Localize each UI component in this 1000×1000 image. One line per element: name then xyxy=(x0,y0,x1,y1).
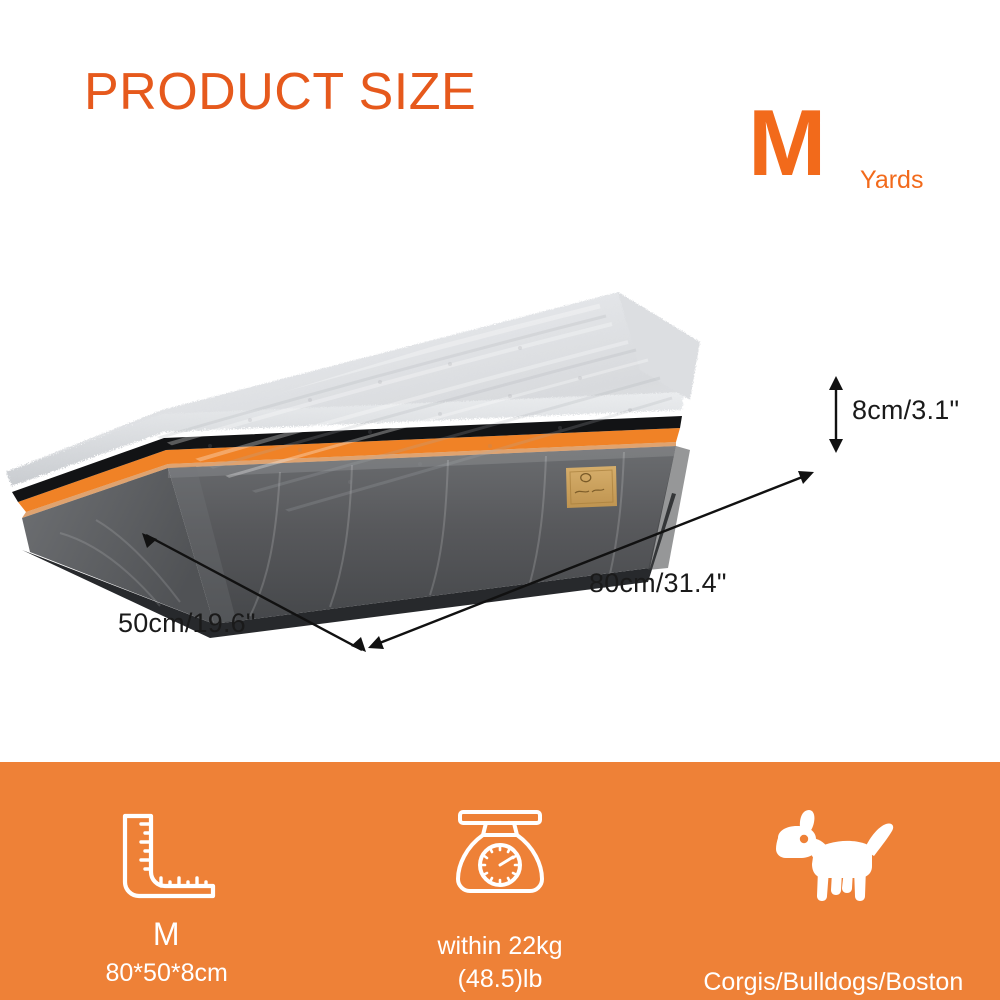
dimension-label-length: 80cm/31.4" xyxy=(589,568,727,599)
spec-footer-band: M 80*50*8cm xyxy=(0,762,1000,1000)
brand-name: Yards xyxy=(860,166,923,195)
spec-item-breeds: Corgis/Bulldogs/Boston xyxy=(667,762,1000,1000)
spec-breeds-list: Corgis/Bulldogs/Boston xyxy=(703,968,963,997)
spec-item-size: M 80*50*8cm xyxy=(0,762,333,1000)
height-arrow-head-bottom xyxy=(829,439,843,453)
dog-icon xyxy=(766,806,900,906)
spec-weight-lb: (48.5)lb xyxy=(458,965,543,994)
brand-size-letter: M xyxy=(748,96,824,190)
ruler-tape-icon xyxy=(115,806,219,906)
weighing-scale-icon xyxy=(450,806,550,906)
dimension-label-height: 8cm/3.1" xyxy=(852,395,959,426)
spec-size-dimensions: 80*50*8cm xyxy=(106,959,228,988)
spec-item-weight: within 22kg (48.5)lb xyxy=(333,762,666,1000)
brand-fabric-tag xyxy=(566,466,617,508)
page-title: PRODUCT SIZE xyxy=(84,62,476,122)
height-arrow-head-top xyxy=(829,376,843,390)
depth-arrow-head-lower xyxy=(351,637,366,652)
spec-size-letter: M xyxy=(153,916,181,953)
dimension-label-depth: 50cm/19.6" xyxy=(118,608,256,639)
spec-weight-kg: within 22kg xyxy=(437,932,562,961)
brand-logo: M Yards xyxy=(748,96,948,206)
product-size-infographic: PRODUCT SIZE M Yards xyxy=(0,0,1000,1000)
